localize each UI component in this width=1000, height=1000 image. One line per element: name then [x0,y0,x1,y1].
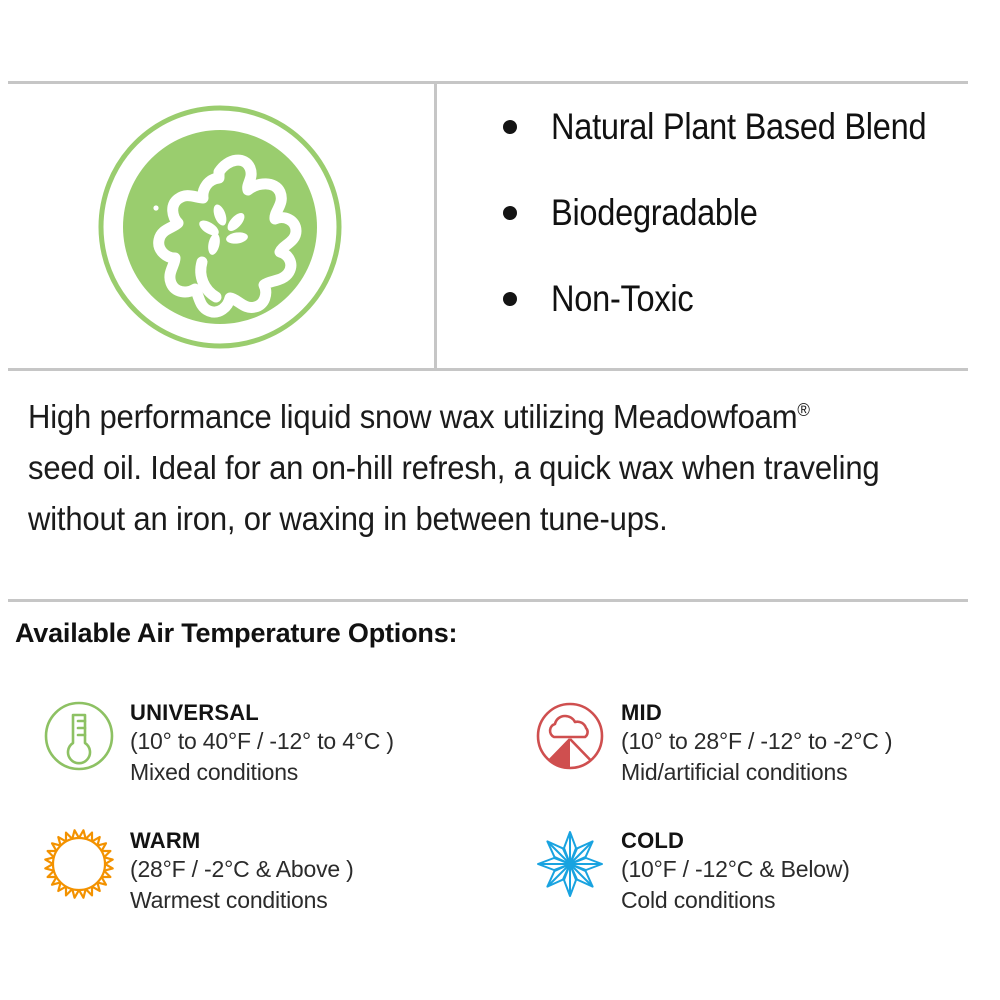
list-item: Non-Toxic [437,278,1000,364]
registered-trademark-mark: ® [797,400,809,420]
feature-label: Natural Plant Based Blend [551,106,926,148]
temperature-option-conditions: Mid/artificial conditions [621,757,892,788]
snowflake-icon [533,827,607,901]
description-line-4: in between tune-ups. [383,500,667,537]
thermometer-icon [42,699,116,773]
temperature-option-range: (10° to 40°F / -12° to 4°C ) [130,726,394,757]
temperature-option-conditions: Mixed conditions [130,757,394,788]
bullet-dot-icon [503,120,517,134]
bullet-dot-icon [503,292,517,306]
temperature-option-name: WARM [130,827,354,854]
temperature-option-text: MID (10° to 28°F / -12° to -2°C ) Mid/ar… [621,697,892,788]
temperature-option-name: MID [621,699,892,726]
hibiscus-flower-logo [97,104,343,350]
temperature-option-text: COLD (10°F / -12°C & Below) Cold conditi… [621,825,850,916]
temperature-option-range: (28°F / -2°C & Above ) [130,854,354,885]
logo-cell [0,84,434,368]
divider-middle [8,368,968,371]
sun-icon [42,827,116,901]
description-line-2-post: seed oil. Ideal for an on-hill refresh, … [28,449,531,486]
list-item: Biodegradable [437,192,1000,278]
temperature-option-name: COLD [621,827,850,854]
temperature-option-warm[interactable]: WARM (28°F / -2°C & Above ) Warmest cond… [42,825,512,916]
temperature-option-name: UNIVERSAL [130,699,394,726]
description-line-1: High performance liquid snow wax utilizi… [28,398,605,435]
temperature-option-text: UNIVERSAL (10° to 40°F / -12° to 4°C ) M… [130,697,394,788]
description-line-2-pre: Meadowfoam [613,398,797,435]
cloud-over-mountain-icon [533,699,607,773]
bullet-dot-icon [503,206,517,220]
feature-label: Non-Toxic [551,278,693,320]
divider-bottom [8,599,968,602]
temperature-option-cold[interactable]: COLD (10°F / -12°C & Below) Cold conditi… [533,825,1000,916]
temperature-option-universal[interactable]: UNIVERSAL (10° to 40°F / -12° to 4°C ) M… [42,697,512,788]
temperature-option-range: (10° to 28°F / -12° to -2°C ) [621,726,892,757]
feature-bullet-list: Natural Plant Based Blend Biodegradable … [437,84,1000,368]
product-info-panel: Natural Plant Based Blend Biodegradable … [0,0,1000,1000]
temperature-option-text: WARM (28°F / -2°C & Above ) Warmest cond… [130,825,354,916]
hero-row: Natural Plant Based Blend Biodegradable … [0,84,1000,368]
temperature-option-range: (10°F / -12°C & Below) [621,854,850,885]
temperature-option-conditions: Warmest conditions [130,885,354,916]
feature-label: Biodegradable [551,192,758,234]
temperature-option-conditions: Cold conditions [621,885,850,916]
temperature-option-mid[interactable]: MID (10° to 28°F / -12° to -2°C ) Mid/ar… [533,697,1000,788]
list-item: Natural Plant Based Blend [437,106,1000,192]
product-description: High performance liquid snow wax utilizi… [28,385,883,544]
temperature-section-heading: Available Air Temperature Options: [15,618,457,649]
